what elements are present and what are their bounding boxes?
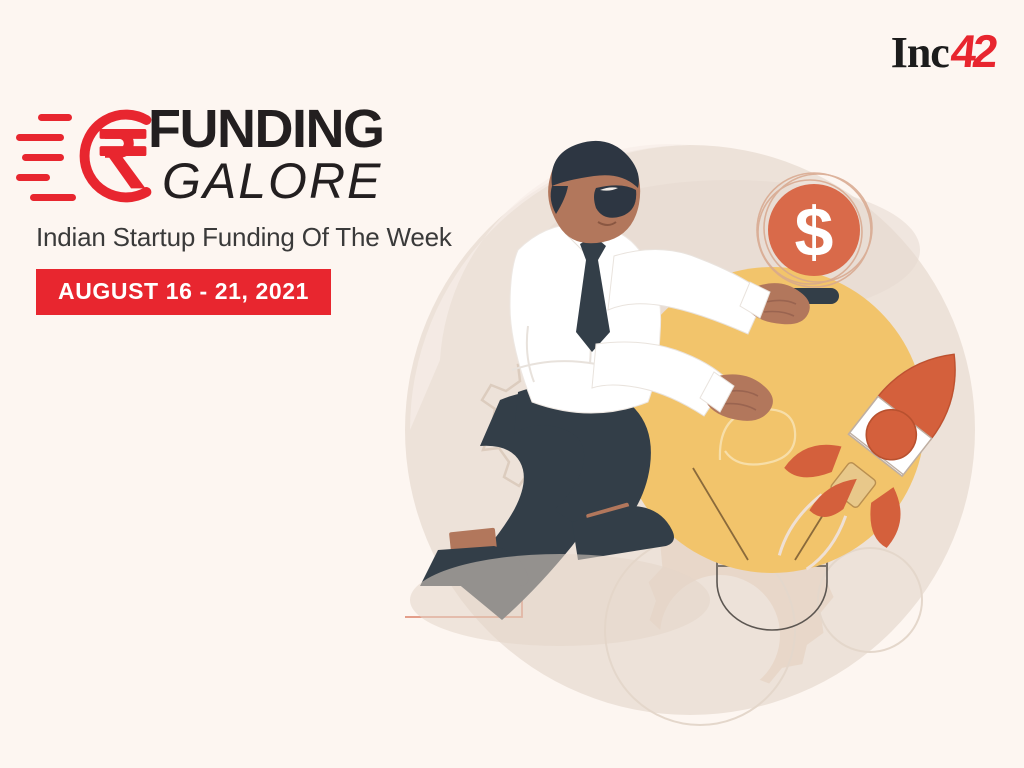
brand-name-dark: Inc (891, 31, 949, 75)
date-range-badge: AUGUST 16 - 21, 2021 (36, 269, 331, 315)
dollar-sign-icon: $ (795, 193, 834, 271)
brand-name-accent: 42 (948, 28, 996, 74)
title-funding: FUNDING (148, 104, 383, 155)
poster-canvas: Inc 42 (0, 0, 1024, 768)
title-stack: FUNDING GALORE (148, 104, 383, 208)
title-galore: GALORE (162, 155, 383, 208)
dollar-coin: $ (757, 173, 872, 287)
illustration: $ (400, 130, 1000, 740)
inc42-logo: Inc 42 (891, 28, 994, 75)
figure-shadow (410, 554, 710, 646)
